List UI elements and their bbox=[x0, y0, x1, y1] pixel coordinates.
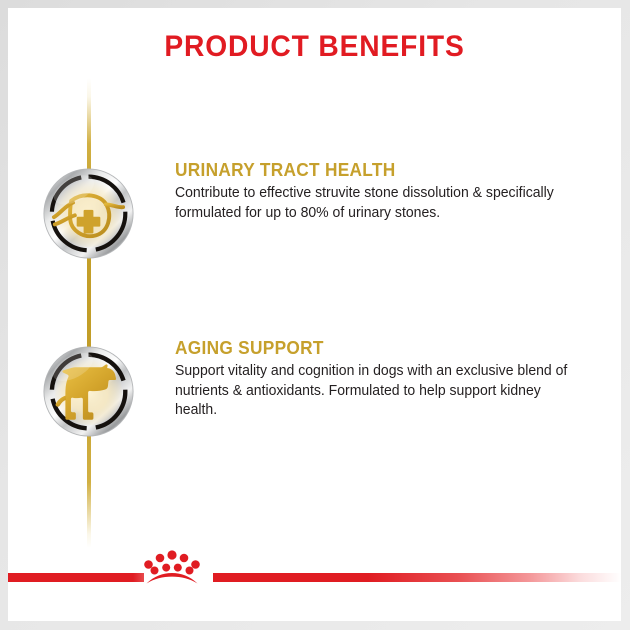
product-benefits-panel: PRODUCT BENEFITS bbox=[0, 0, 630, 630]
footer-rule-right bbox=[213, 573, 621, 582]
urinary-bladder-cross-icon bbox=[43, 168, 134, 259]
aging-dog-icon bbox=[43, 346, 134, 437]
benefit-description: Support vitality and cognition in dogs w… bbox=[175, 362, 577, 421]
benefit-heading: URINARY TRACT HEALTH bbox=[175, 160, 571, 181]
benefit-description: Contribute to effective struvite stone d… bbox=[175, 184, 577, 223]
benefit-item-urinary-tract-health: URINARY TRACT HEALTH Contribute to effec… bbox=[8, 160, 621, 280]
royal-canin-crown-logo bbox=[136, 545, 208, 589]
footer-rule-left bbox=[8, 573, 144, 582]
page-title: PRODUCT BENEFITS bbox=[26, 30, 602, 64]
benefit-text-block: AGING SUPPORT Support vitality and cogni… bbox=[175, 338, 587, 421]
panel-canvas: PRODUCT BENEFITS bbox=[8, 8, 621, 621]
vertical-gold-divider bbox=[87, 78, 91, 548]
footer bbox=[8, 545, 621, 593]
benefit-item-aging-support: AGING SUPPORT Support vitality and cogni… bbox=[8, 338, 621, 458]
benefit-heading: AGING SUPPORT bbox=[175, 338, 571, 359]
benefit-text-block: URINARY TRACT HEALTH Contribute to effec… bbox=[175, 160, 587, 223]
